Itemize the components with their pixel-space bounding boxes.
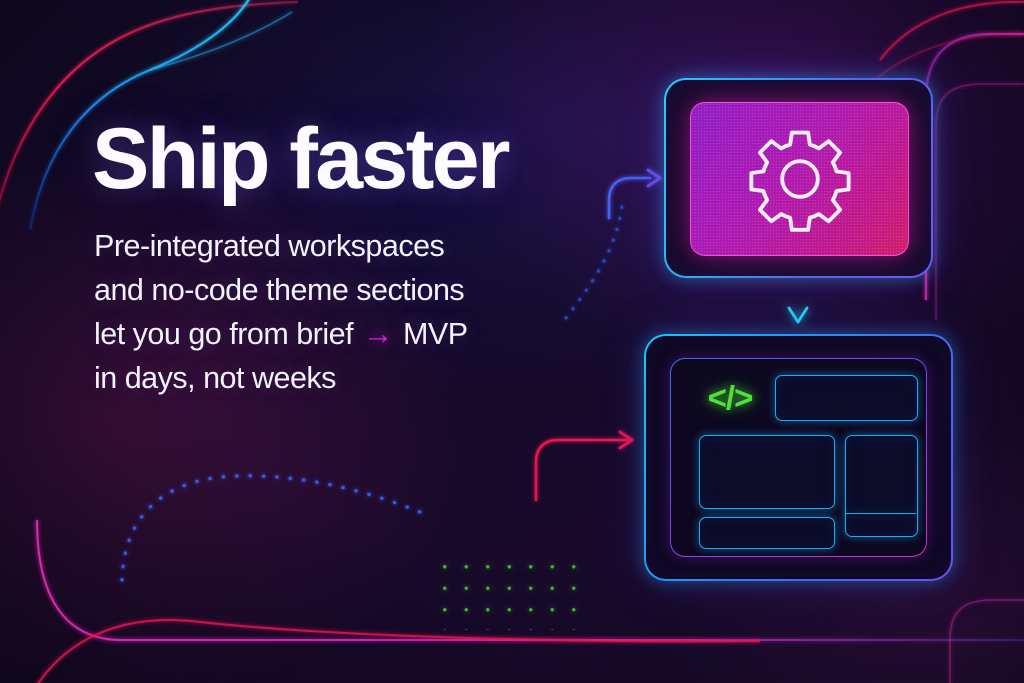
hero-copy: Ship faster Pre-integrated workspaces an… <box>92 116 612 400</box>
curve-magenta-frame-top-right-outer <box>936 84 1024 320</box>
gear-card <box>664 78 933 278</box>
curve-red-arc-top-right <box>880 2 1024 60</box>
curve-red-bottom-left <box>28 620 760 683</box>
connector-text-to-gear <box>609 170 660 232</box>
gear-card-panel <box>690 102 909 256</box>
hero-graphic: Ship faster Pre-integrated workspaces an… <box>0 0 1024 683</box>
code-brackets-icon: </> <box>699 377 761 419</box>
wireframe-sidebar-divider <box>845 513 916 514</box>
wireframe-header-bar <box>775 375 918 421</box>
wireframe-inner-frame: </> <box>670 358 927 557</box>
page-title: Ship faster <box>92 116 612 202</box>
subcopy-line-1: Pre-integrated workspaces <box>94 229 444 263</box>
wireframe-card: </> <box>644 334 953 581</box>
dotted-curve-blue-lower-left <box>122 476 420 580</box>
subcopy-line-3a: let you go from brief <box>94 317 353 351</box>
subcopy-line-3b: MVP <box>403 317 468 351</box>
arrow-right-icon: → <box>361 317 395 351</box>
subcopy-line-2: and no-code theme sections <box>94 273 464 307</box>
green-dot-grid <box>434 556 589 630</box>
subcopy-line-4: in days, not weeks <box>94 361 336 395</box>
wireframe-main-content-block <box>699 435 835 509</box>
gear-icon <box>746 125 854 233</box>
curve-magenta-frame-bottom-right <box>950 600 1024 683</box>
wireframe-sidebar-block <box>845 435 918 537</box>
connector-text-to-wireframe <box>536 432 632 500</box>
curve-magenta-frame-top-right <box>926 34 1024 300</box>
wireframe-footer-bar <box>699 517 835 549</box>
hero-subcopy: Pre-integrated workspaces and no-code th… <box>94 224 564 400</box>
